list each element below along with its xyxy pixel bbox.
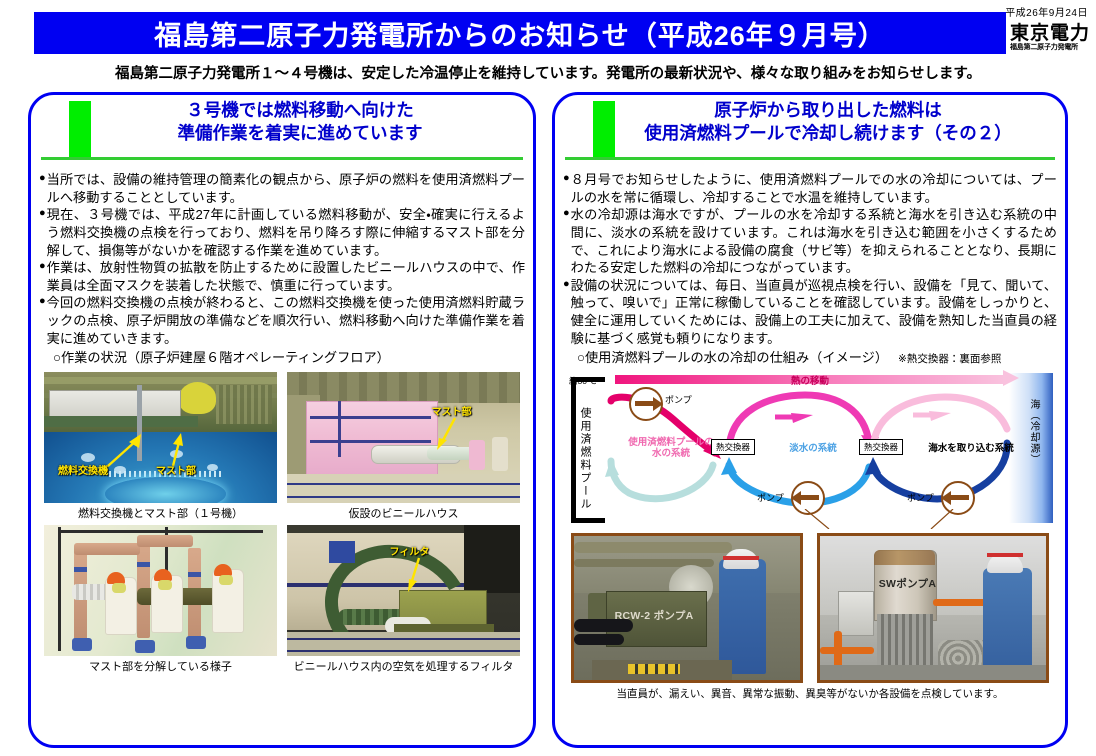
right-subhead: ○使用済燃料プールの水の冷却の仕組み（イメージ） ※熱交換器：裏面参照 [577, 349, 1057, 367]
photo-caption: 燃料交換機とマスト部（１号機） [44, 505, 277, 521]
pump-leader-line-2 [923, 509, 963, 529]
bullet-text: 設備の状況については、毎日、当直員が巡視点検を行い、設備を「見て、聞いて、触って… [571, 277, 1057, 348]
right-panel-header: 原子炉から取り出した燃料は 使用済燃料プールで冷却し続けます（その２） [555, 95, 1065, 165]
pump-label-1: ポンプ [665, 393, 692, 406]
photo-cell: SWポンプA [817, 533, 1049, 683]
right-title-rule [565, 157, 1055, 160]
photo-mast-disassembly [44, 525, 277, 656]
photo-cell: フィルタ ビニールハウス内の空気を処理するフィルタ [287, 525, 520, 678]
photo-cell: マスト部を分解している様子 [44, 525, 277, 678]
heat-exchanger-2: 熱交換器 [859, 439, 903, 455]
right-photo-grid: RCW-2 ポンプA SWポンプA [565, 533, 1055, 683]
right-article-panel: 原子炉から取り出した燃料は 使用済燃料プールで冷却し続けます（その２） ● ８月… [552, 92, 1068, 748]
photo-annotation: 燃料交換機 [58, 462, 108, 477]
issue-date: 平成26年9月24日 [1005, 4, 1088, 19]
photo-caption: 仮設のビニールハウス [287, 505, 520, 521]
newsletter-page: 平成26年9月24日 TEPCO 東京電力 福島第二原子力発電所 福島第二原子力… [0, 0, 1096, 756]
photo-cell: RCW-2 ポンプA [571, 533, 803, 683]
photo-cell: マスト部 仮設のビニールハウス [287, 372, 520, 525]
bullet-marker-icon: ● [563, 206, 571, 222]
left-subhead: ○作業の状況（原子炉建屋６階オペレーティングフロア） [53, 349, 525, 367]
pump-leader-line-1 [799, 509, 839, 529]
left-panel-header: ３号機では燃料移動へ向けた 準備作業を着実に進めています [31, 95, 533, 165]
page-title: 福島第二原子力発電所からのお知らせ（平成26年９月号） [154, 14, 886, 53]
cooling-system-diagram: 約30℃ 使用済燃料プール 海（冷却源） 熱の移動 使用済燃料プールの 水の系統 [563, 371, 1057, 529]
sea-label: 海（冷却源） [1026, 399, 1041, 465]
bullet-item: ● 作業は、放射性物質の拡散を防止するために設置したビニールハウスの中で、作業員… [39, 259, 525, 294]
right-subhead-note: ※熱交換器：裏面参照 [898, 352, 1001, 366]
bullet-item: ● 設備の状況については、毎日、当直員が巡視点検を行い、設備を「見て、聞いて、触… [563, 277, 1057, 348]
photo-annotation: マスト部 [156, 462, 196, 477]
heat-exchanger-1: 熱交換器 [711, 439, 755, 455]
pump-icon-1 [629, 387, 663, 421]
left-photo-grid: 燃料交換機 マスト部 燃料交換機とマスト部（１号機） [41, 372, 523, 678]
page-title-bar: 福島第二原子力発電所からのお知らせ（平成26年９月号） [34, 12, 1006, 54]
photo-sw-pump: SWポンプA [817, 533, 1049, 683]
right-panel-title: 原子炉から取り出した燃料は 使用済燃料プールで冷却し続けます（その２） [601, 99, 1055, 145]
fresh-water-system-label: 淡水の系統 [775, 443, 851, 454]
right-subhead-text: ○使用済燃料プールの水の冷却の仕組み（イメージ） [577, 349, 888, 367]
photo-rcw-pump: RCW-2 ポンプA [571, 533, 803, 683]
company-name: 東京電力 [1010, 24, 1090, 43]
photo-refueling-machine: 燃料交換機 マスト部 [44, 372, 277, 503]
pump-label-2: ポンプ [757, 491, 784, 504]
equipment-label: SWポンプA [879, 576, 936, 591]
right-photo-caption: 当直員が、漏えい、異音、異常な振動、異臭等がないか各設備を点検しています。 [555, 686, 1065, 701]
bullet-item: ● 現在、３号機では、平成27年に計画している燃料移動が、安全・確実に行えるよう… [39, 206, 525, 259]
photo-annotation: マスト部 [431, 403, 471, 418]
bullet-text: ８月号でお知らせしたように、使用済燃料プールでの水の冷却については、プールの水を… [571, 171, 1057, 206]
bullet-item: ● 水の冷却源は海水ですが、プールの水を冷却する系統と海水を引き込む系統の中間に… [563, 206, 1057, 277]
bullet-text: 作業は、放射性物質の拡散を防止するために設置したビニールハウスの中で、作業員は全… [47, 259, 525, 294]
left-title-rule [41, 157, 523, 160]
pool-water-system-label: 使用済燃料プールの 水の系統 [625, 437, 717, 460]
photo-caption: ビニールハウス内の空気を処理するフィルタ [287, 658, 520, 674]
bullet-marker-icon: ● [39, 206, 47, 222]
bullet-item: ● ８月号でお知らせしたように、使用済燃料プールでの水の冷却については、プールの… [563, 171, 1057, 206]
photo-air-filter: フィルタ [287, 525, 520, 656]
bullet-marker-icon: ● [39, 294, 47, 310]
bullet-marker-icon: ● [563, 171, 571, 187]
left-panel-body: ● 当所では、設備の維持管理の簡素化の観点から、原子炉の燃料を使用済燃料プールへ… [39, 171, 525, 367]
photo-vinyl-house: マスト部 [287, 372, 520, 503]
left-subhead-text: ○作業の状況（原子炉建屋６階オペレーティングフロア） [53, 349, 390, 367]
photo-caption: マスト部を分解している様子 [44, 658, 277, 674]
bullet-text: 当所では、設備の維持管理の簡素化の観点から、原子炉の燃料を使用済燃料プールへ移動… [47, 171, 525, 206]
bullet-item: ● 今回の燃料交換機の点検が終わると、この燃料交換機を使った使用済燃料貯蔵ラック… [39, 294, 525, 347]
page-subtitle: 福島第二原子力発電所１～４号機は、安定した冷温停止を維持しています。発電所の最新… [0, 62, 1096, 83]
left-panel-title: ３号機では燃料移動へ向けた 準備作業を着実に進めています [77, 99, 523, 145]
site-name: 福島第二原子力発電所 [1010, 44, 1090, 51]
bullet-marker-icon: ● [39, 171, 47, 187]
seawater-system-label: 海水を取り込む系統 [919, 443, 1023, 454]
left-article-panel: ３号機では燃料移動へ向けた 準備作業を着実に進めています ● 当所では、設備の維… [28, 92, 536, 748]
pump-label-3: ポンプ [907, 491, 934, 504]
bullet-text: 現在、３号機では、平成27年に計画している燃料移動が、安全・確実に行えるよう燃料… [47, 206, 525, 259]
photo-annotation: フィルタ [390, 543, 430, 558]
bullet-marker-icon: ● [563, 277, 571, 293]
photo-cell: 燃料交換機 マスト部 燃料交換機とマスト部（１号機） [44, 372, 277, 525]
bullet-text: 今回の燃料交換機の点検が終わると、この燃料交換機を使った使用済燃料貯蔵ラックの点… [47, 294, 525, 347]
bullet-text: 水の冷却源は海水ですが、プールの水を冷却する系統と海水を引き込む系統の中間に、淡… [571, 206, 1057, 277]
bullet-marker-icon: ● [39, 259, 47, 275]
bullet-item: ● 当所では、設備の維持管理の簡素化の観点から、原子炉の燃料を使用済燃料プールへ… [39, 171, 525, 206]
right-panel-body: ● ８月号でお知らせしたように、使用済燃料プールでの水の冷却については、プールの… [563, 171, 1057, 367]
spent-fuel-pool-label: 使用済燃料プール [577, 407, 593, 511]
